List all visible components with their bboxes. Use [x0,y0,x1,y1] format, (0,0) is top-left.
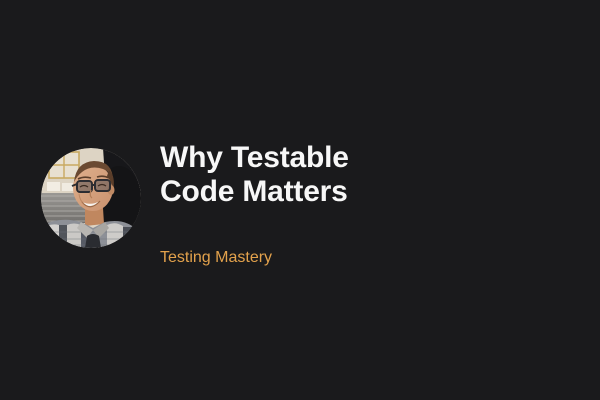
presentation-slide: Why Testable Code Matters Testing Master… [0,0,600,400]
page-title: Why Testable Code Matters [160,141,560,209]
avatar-photo [41,148,141,248]
avatar [41,148,141,248]
slide-subtitle: Testing Mastery [160,248,272,268]
